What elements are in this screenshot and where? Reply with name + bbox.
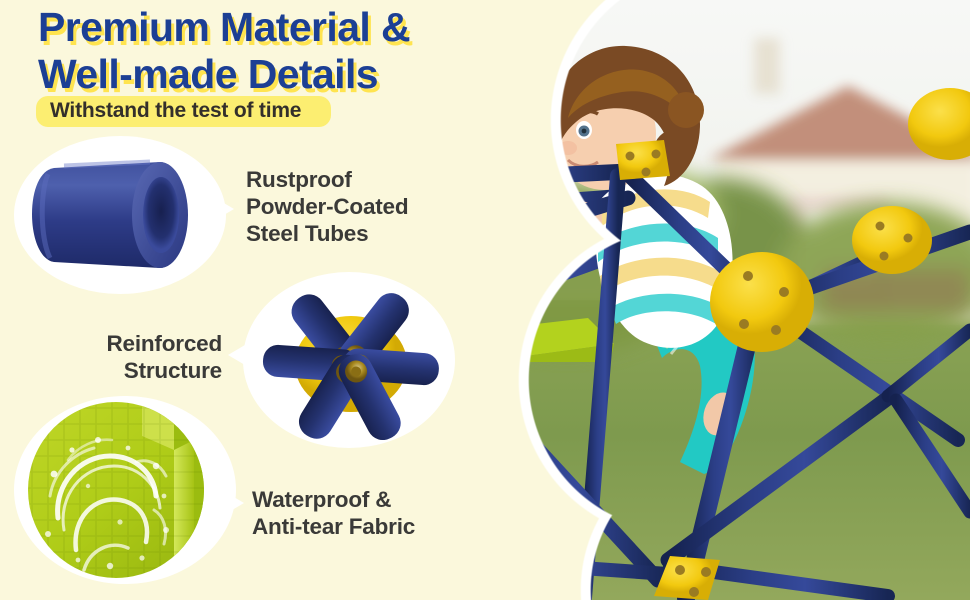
- feature-label-line-1: Reinforced: [36, 330, 222, 357]
- headline-line-2: Well-made Details: [38, 51, 508, 98]
- headline-line-1: Premium Material &: [38, 4, 508, 51]
- product-feature-poster: Premium Material & Well-made Details Wit…: [0, 0, 970, 600]
- callout-pointer-reinforced-structure: [228, 342, 250, 368]
- feature-label-waterproof-fabric: Waterproof & Anti-tear Fabric: [252, 486, 415, 540]
- subtitle-highlight-bar: Withstand the test of time: [36, 96, 331, 127]
- steel-tube-image: [24, 148, 216, 282]
- feature-label-line-3: Steel Tubes: [246, 220, 408, 247]
- subtitle: Withstand the test of time: [36, 96, 331, 127]
- subtitle-text: Withstand the test of time: [50, 99, 301, 122]
- feature-label-reinforced-structure: Reinforced Structure: [36, 330, 222, 384]
- waterproof-fabric-image: [24, 400, 220, 578]
- feature-label-line-1: Waterproof &: [252, 486, 415, 513]
- feature-label-line-1: Rustproof: [246, 166, 408, 193]
- feature-label-rustproof-tubes: Rustproof Powder-Coated Steel Tubes: [246, 166, 408, 247]
- headline: Premium Material & Well-made Details: [38, 4, 508, 98]
- reinforced-hub-image: [248, 278, 454, 446]
- feature-label-line-2: Anti-tear Fabric: [252, 513, 415, 540]
- callout-pointer-waterproof-fabric: [222, 490, 244, 516]
- feature-label-line-2: Structure: [36, 357, 222, 384]
- feature-label-line-2: Powder-Coated: [246, 193, 408, 220]
